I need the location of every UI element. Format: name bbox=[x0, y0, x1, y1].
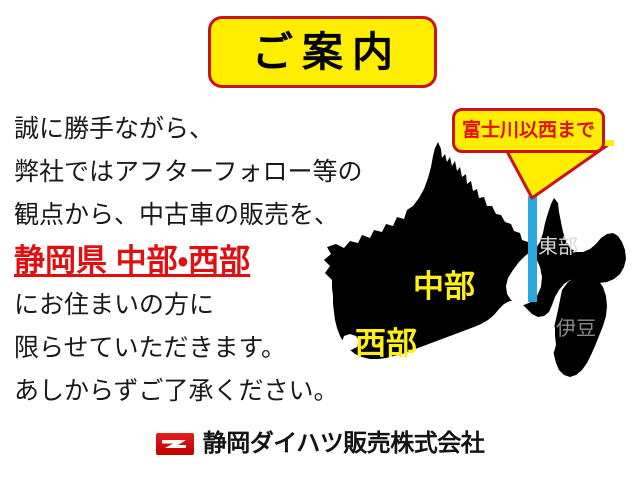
fuji-river-divider bbox=[528, 196, 537, 302]
map-label-chubu: 中部 bbox=[413, 271, 475, 302]
company-name: 静岡ダイハツ販売株式会社 bbox=[203, 432, 485, 456]
footer-branding: 静岡ダイハツ販売株式会社 bbox=[0, 432, 640, 456]
daihatsu-logo-icon bbox=[156, 433, 194, 455]
notice-poster: ご案内 誠に勝手ながら、 弊社ではアフターフォロー等の 観点から、中古車の販売を… bbox=[0, 0, 640, 480]
map-label-tobu: 東部 bbox=[538, 237, 578, 257]
page-title: ご案内 bbox=[243, 32, 402, 73]
map-label-izu: 伊豆 bbox=[556, 319, 596, 339]
callout-text: 富士川以西まで bbox=[462, 121, 595, 140]
map-label-seibu: 西部 bbox=[355, 328, 417, 359]
notice-title-banner: ご案内 bbox=[208, 16, 437, 88]
callout-bubble: 富士川以西まで bbox=[452, 108, 605, 153]
